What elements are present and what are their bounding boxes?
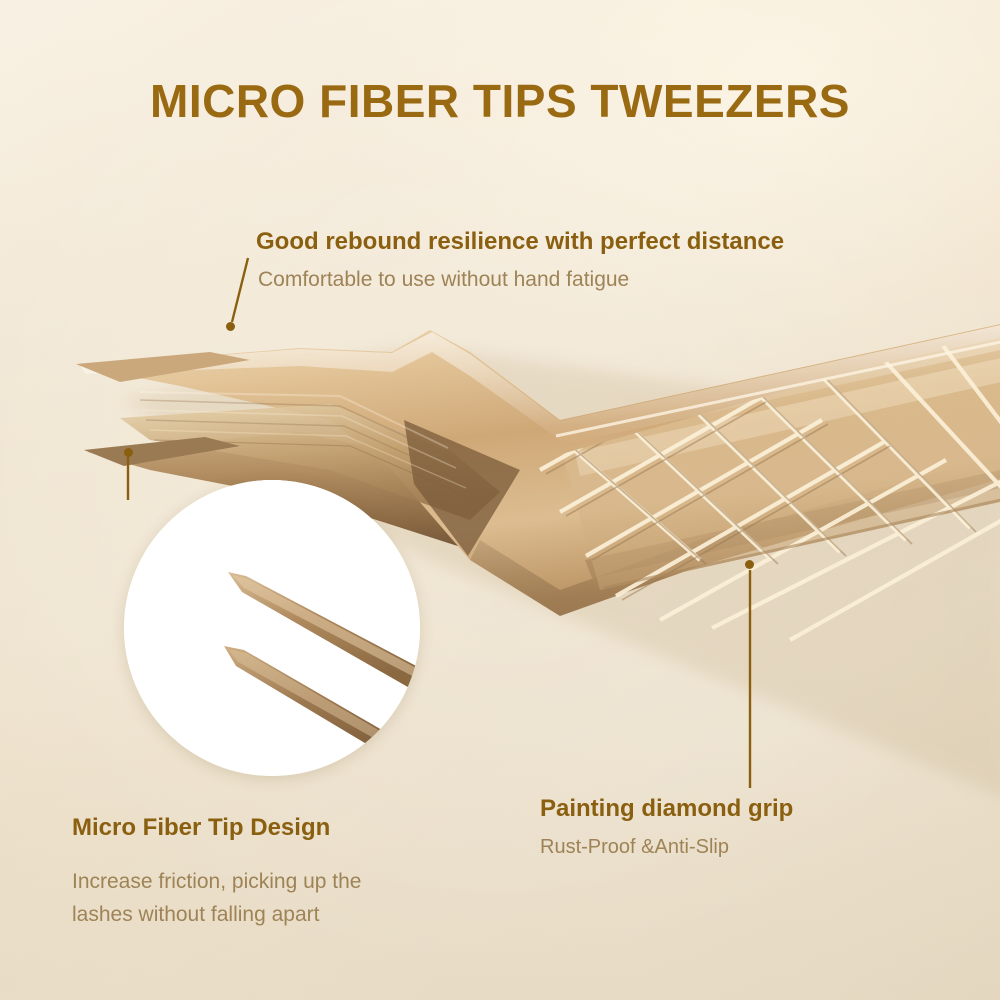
leader-dot-grip (745, 560, 754, 569)
leader-dot-tip (124, 448, 133, 457)
infographic-canvas: MICRO FIBER TIPS TWEEZERS Good rebound r… (0, 0, 1000, 1000)
callout-subtext-tip-line2: lashes without falling apart (72, 903, 319, 927)
callout-subtext-rebound: Comfortable to use without hand fatigue (258, 268, 629, 292)
page-title: MICRO FIBER TIPS TWEEZERS (0, 74, 1000, 128)
callout-heading-rebound: Good rebound resilience with perfect dis… (256, 228, 784, 256)
callout-heading-tip: Micro Fiber Tip Design (72, 814, 330, 842)
leader-lines (0, 0, 1000, 1000)
callout-subtext-grip: Rust-Proof &Anti-Slip (540, 836, 729, 859)
callout-subtext-tip-line1: Increase friction, picking up the (72, 870, 362, 894)
callout-heading-grip: Painting diamond grip (540, 795, 793, 823)
leader-dot-rebound (226, 322, 235, 331)
